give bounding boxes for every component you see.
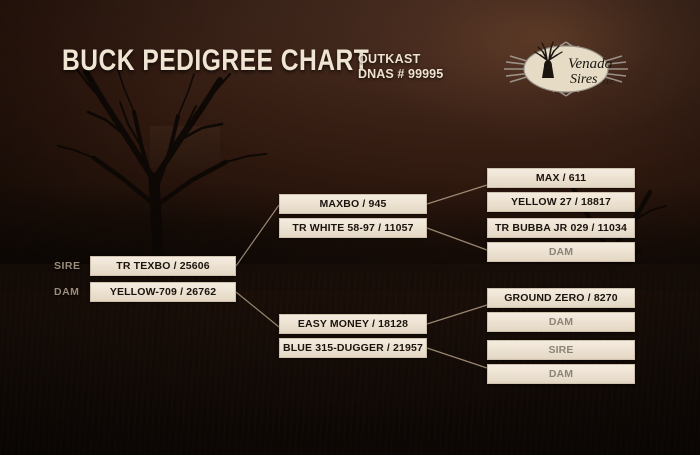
dam-row-label: DAM	[54, 286, 79, 298]
gen1-dam-box[interactable]: YELLOW-709 / 26762	[90, 282, 236, 302]
gen2-box-1[interactable]: MAXBO / 945	[279, 194, 427, 214]
sire-row-label: SIRE	[54, 260, 81, 272]
gen3-box-7[interactable]: SIRE	[487, 340, 635, 360]
gen3-box-1[interactable]: MAX / 611	[487, 168, 635, 188]
gen3-box-3[interactable]: TR BUBBA JR 029 / 11034	[487, 218, 635, 238]
gen1-sire-box[interactable]: TR TEXBO / 25606	[90, 256, 236, 276]
gen3-box-5[interactable]: GROUND ZERO / 8270	[487, 288, 635, 308]
pedigree-chart: BUCK PEDIGREE CHART OUTKAST DNAS # 99995…	[0, 0, 700, 455]
gen3-box-8[interactable]: DAM	[487, 364, 635, 384]
gen3-box-6[interactable]: DAM	[487, 312, 635, 332]
gen3-box-2[interactable]: YELLOW 27 / 18817	[487, 192, 635, 212]
gen2-box-2[interactable]: TR WHITE 58-97 / 11057	[279, 218, 427, 238]
gen3-box-4[interactable]: DAM	[487, 242, 635, 262]
gen2-box-3[interactable]: EASY MONEY / 18128	[279, 314, 427, 334]
gen2-box-4[interactable]: BLUE 315-DUGGER / 21957	[279, 338, 427, 358]
